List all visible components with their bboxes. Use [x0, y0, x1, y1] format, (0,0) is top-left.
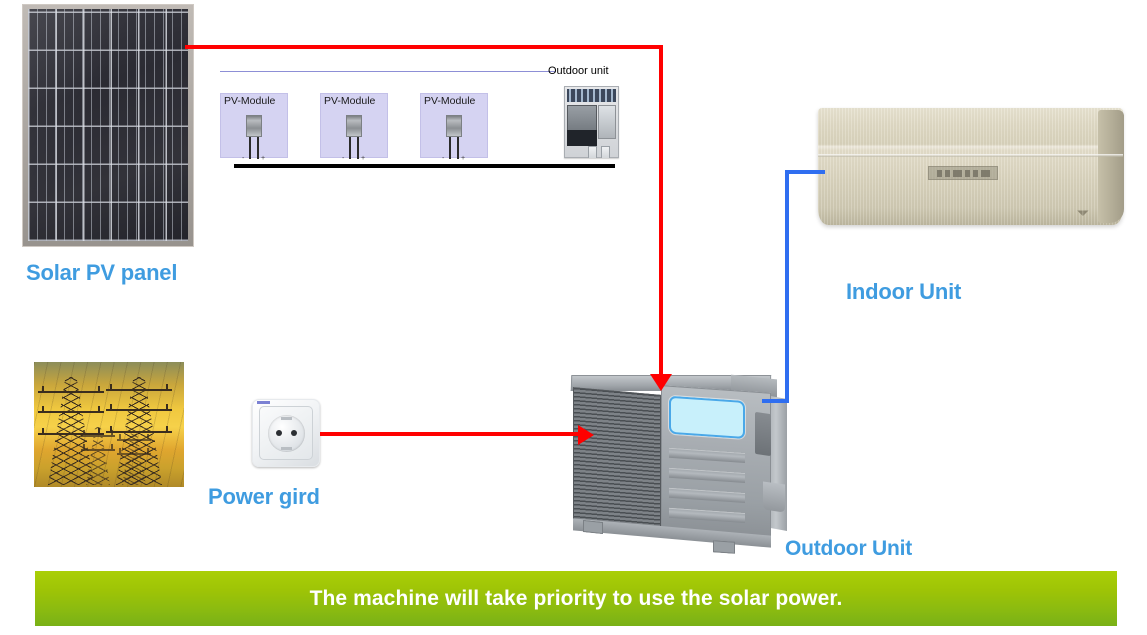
inverter-terminal-row — [567, 89, 616, 102]
display-segment — [973, 170, 978, 177]
socket-earth-clip-top — [281, 417, 292, 420]
outdoor-unit-handle — [755, 412, 771, 456]
solar-panel-label: Solar PV panel — [26, 260, 177, 286]
outdoor-unit-foot-left — [583, 520, 603, 534]
solar-wire-arrow-icon — [650, 374, 672, 391]
outdoor-unit-drain-tray — [763, 481, 785, 512]
pv-wire-negative — [249, 137, 251, 159]
pv-connector-icon — [246, 115, 262, 137]
indoor-unit-side-cap — [1098, 110, 1124, 223]
socket-receptacle — [268, 415, 305, 452]
indoor-unit-brand-logo: ◥◤ — [1077, 209, 1089, 217]
grid-wire-horizontal — [320, 432, 582, 436]
pv-module-3-label: PV-Module — [424, 95, 475, 107]
outdoor-unit-image — [565, 375, 785, 560]
pv-module-2-plus: + — [361, 155, 365, 162]
schematic-top-line — [220, 71, 555, 72]
socket-pin-hole-left — [276, 430, 282, 436]
socket-earth-clip-bottom — [281, 447, 292, 450]
socket-faceplate — [259, 406, 313, 460]
pv-connector-icon — [446, 115, 462, 137]
display-segment — [953, 170, 962, 177]
indoor-unit-image: ◥◤ — [818, 108, 1123, 225]
banner-text: The machine will take priority to use th… — [310, 587, 843, 611]
pv-module-1-plus: + — [261, 155, 265, 162]
outdoor-unit-fan-panel — [669, 396, 745, 439]
indoor-wire-top — [785, 170, 825, 174]
outdoor-unit-foot-right — [713, 540, 735, 554]
outdoor-unit-louver — [669, 508, 745, 523]
outdoor-unit-coil-grille — [573, 387, 661, 533]
display-segment — [945, 170, 950, 177]
power-grid-label: Power gird — [208, 484, 320, 510]
pv-module-3-minus: - — [442, 155, 444, 162]
pv-wire-positive — [357, 137, 359, 159]
display-segment — [965, 170, 970, 177]
outdoor-unit-louver — [669, 488, 745, 503]
display-segment — [937, 170, 942, 177]
pv-wire-positive — [457, 137, 459, 159]
outdoor-unit-label: Outdoor Unit — [785, 537, 912, 561]
outdoor-unit-louver — [669, 468, 745, 483]
pv-module-3-plus: + — [461, 155, 465, 162]
outdoor-unit-front-panel — [661, 385, 771, 541]
socket-pin-hole-right — [291, 430, 297, 436]
pv-busbar-wire — [234, 164, 615, 168]
diagram-canvas: Solar PV panel PV-Module - + PV-Module -… — [0, 0, 1147, 635]
transmission-tower-3 — [86, 427, 110, 485]
transmission-tower-4 — [122, 431, 146, 485]
inverter-plug-1 — [588, 146, 597, 158]
display-segment — [981, 170, 990, 177]
pv-module-1: PV-Module - + — [220, 93, 288, 158]
wall-socket-image — [252, 399, 320, 467]
pv-module-2-label: PV-Module — [324, 95, 375, 107]
pv-module-1-label: PV-Module — [224, 95, 275, 107]
pv-wire-negative — [449, 137, 451, 159]
indoor-wire-bottom — [762, 399, 789, 403]
schematic-outdoor-unit-label: Outdoor unit — [548, 65, 609, 77]
pv-connector-icon — [346, 115, 362, 137]
outdoor-unit-louver — [669, 448, 745, 463]
inverter-plug-2 — [601, 146, 610, 158]
solar-wire-horizontal — [185, 45, 663, 49]
inverter-box-image — [564, 86, 619, 158]
pv-module-2: PV-Module - + — [320, 93, 388, 158]
pv-module-3: PV-Module - + — [420, 93, 488, 158]
inverter-component-dark — [567, 130, 597, 146]
indoor-unit-label: Indoor Unit — [846, 279, 961, 305]
solar-cell-grid — [28, 9, 188, 241]
socket-brand-tag — [257, 401, 270, 404]
power-grid-image — [34, 362, 184, 487]
grid-wire-arrow-icon — [578, 425, 594, 445]
pv-wire-positive — [257, 137, 259, 159]
pv-module-2-minus: - — [342, 155, 344, 162]
pv-module-1-minus: - — [242, 155, 244, 162]
indoor-unit-display-panel — [928, 166, 998, 180]
inverter-component-right — [598, 105, 616, 139]
solar-wire-vertical — [659, 45, 663, 380]
indoor-wire-vertical — [785, 170, 789, 403]
solar-panel-image — [22, 4, 194, 247]
bottom-banner: The machine will take priority to use th… — [35, 571, 1117, 626]
indoor-unit-seam — [818, 154, 1123, 157]
pv-wire-negative — [349, 137, 351, 159]
